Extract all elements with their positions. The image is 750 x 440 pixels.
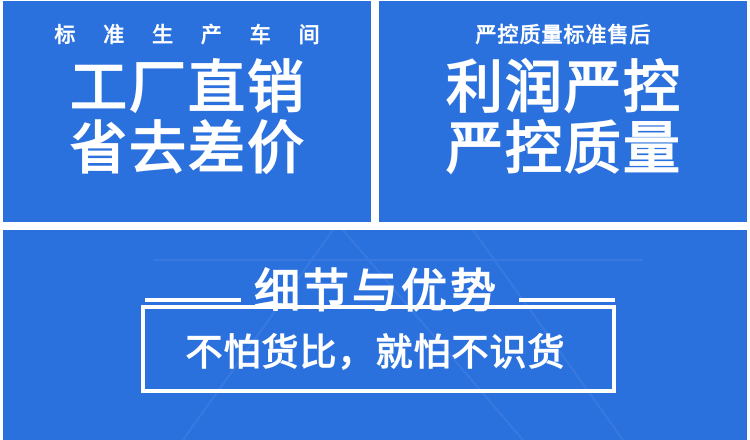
panel-left-headline: 工厂直销 省去差价 bbox=[68, 58, 306, 180]
panel-left-eyebrow: 标 准 生 产 车 间 bbox=[43, 25, 330, 46]
promo-banner: 标 准 生 产 车 间 工厂直销 省去差价 严控质量标准售后 利润严控 严控质量 bbox=[0, 0, 750, 440]
panel-right-content: 严控质量标准售后 利润严控 严控质量 bbox=[379, 1, 747, 222]
panel-right-headline-line1: 利润严控 bbox=[446, 56, 682, 120]
panel-bottom-content: 细节与优势 不怕货比，就怕不识货 bbox=[3, 230, 747, 440]
panel-quality-control: 严控质量标准售后 利润严控 严控质量 bbox=[379, 1, 747, 222]
feature-title: 细节与优势 bbox=[3, 268, 747, 314]
panel-left-headline-line1: 工厂直销 bbox=[70, 56, 306, 120]
panel-details-advantages: 细节与优势 不怕货比，就怕不识货 bbox=[3, 230, 747, 440]
panel-left-content: 标 准 生 产 车 间 工厂直销 省去差价 bbox=[3, 1, 371, 222]
feature-subtitle: 不怕货比，就怕不识货 bbox=[3, 334, 747, 371]
panel-right-headline-line2: 严控质量 bbox=[444, 119, 682, 180]
panel-right-headline: 利润严控 严控质量 bbox=[444, 58, 682, 180]
panel-factory-direct: 标 准 生 产 车 间 工厂直销 省去差价 bbox=[3, 1, 371, 222]
panel-left-headline-line2: 省去差价 bbox=[68, 119, 306, 180]
panel-right-eyebrow: 严控质量标准售后 bbox=[475, 25, 652, 46]
